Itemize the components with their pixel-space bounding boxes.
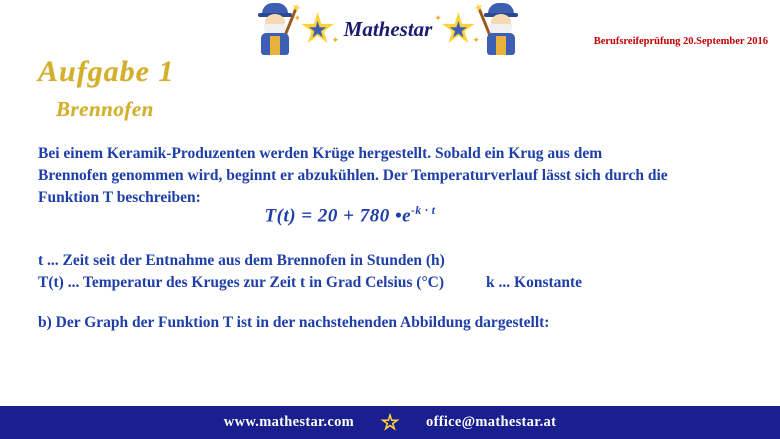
legend-temperature-text: T(t) ... Temperatur des Kruges zur Zeit …	[38, 274, 444, 291]
footer-website[interactable]: www.mathestar.com	[224, 414, 354, 431]
star-icon	[380, 413, 400, 433]
formula-left-hand-side: T(t) = 20 + 780 •	[265, 205, 403, 226]
problem-line-2: Brennofen genommen wird, beginnt er abzu…	[38, 165, 738, 187]
variable-legend: t ... Zeit seit der Entnahme aus dem Bre…	[38, 250, 738, 295]
question-b: b) Der Graph der Funktion T ist in der n…	[38, 314, 738, 332]
brand-logo-group: ✦ ✦ Mathestar ✦ ✦	[243, 2, 533, 56]
legend-line-temp: T(t) ... Temperatur des Kruges zur Zeit …	[38, 272, 738, 294]
problem-line-1: Bei einem Keramik-Produzenten werden Krü…	[38, 143, 738, 165]
formula-base: e	[402, 205, 411, 226]
wizard-mascot-icon	[253, 3, 297, 55]
formula: T(t) = 20 + 780 •e-k · t	[0, 205, 700, 227]
page-subtitle: Brennofen	[56, 97, 154, 122]
legend-line-t: t ... Zeit seit der Entnahme aus dem Bre…	[38, 250, 738, 272]
exam-label: Berufsreifeprüfung 20.September 2016	[594, 36, 768, 47]
star-icon: ✦ ✦	[301, 12, 335, 46]
footer-bar: www.mathestar.com office@mathestar.at	[0, 406, 780, 439]
page-title: Aufgabe 1	[38, 55, 175, 89]
legend-constant-text: k ... Konstante	[486, 274, 582, 291]
problem-statement: Bei einem Keramik-Produzenten werden Krü…	[38, 143, 738, 209]
brand-name: Mathestar	[344, 17, 433, 42]
formula-exponent: -k · t	[411, 205, 435, 217]
star-icon: ✦ ✦	[441, 12, 475, 46]
header-logo-band: ✦ ✦ Mathestar ✦ ✦	[0, 0, 780, 58]
wizard-mascot-icon	[479, 3, 523, 55]
footer-email[interactable]: office@mathestar.at	[426, 414, 556, 431]
